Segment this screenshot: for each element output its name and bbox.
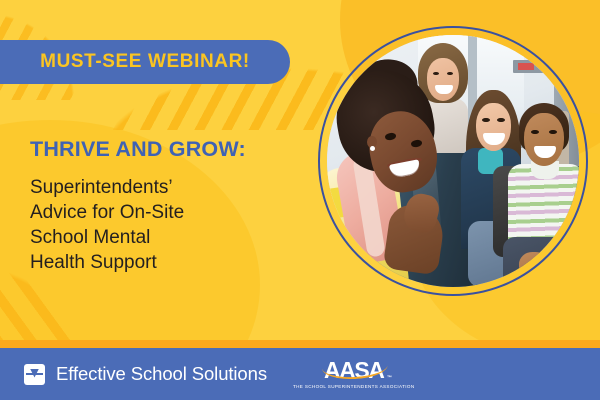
subhead-line-1: Superintendents’ bbox=[30, 175, 295, 200]
aasa-tagline: THE SCHOOL SUPERINTENDENTS ASSOCIATION bbox=[293, 384, 415, 389]
students-on-bus-photo bbox=[327, 35, 579, 287]
student-right-eye-left bbox=[531, 130, 539, 135]
promo-subheading: Superintendents’ Advice for On-Site Scho… bbox=[30, 175, 295, 275]
promo-copy-block: THRIVE AND GROW: Superintendents’ Advice… bbox=[30, 138, 295, 275]
bus-sign bbox=[513, 60, 553, 73]
must-see-webinar-badge: MUST-SEE WEBINAR! bbox=[0, 40, 290, 84]
aasa-trademark: ™ bbox=[387, 376, 391, 381]
student-front-earring bbox=[370, 146, 375, 151]
student-back-face bbox=[427, 58, 460, 101]
badge-label: MUST-SEE WEBINAR! bbox=[40, 51, 250, 73]
subhead-line-4: Health Support bbox=[30, 250, 295, 275]
effective-school-solutions-logo: Effective School Solutions bbox=[24, 363, 267, 385]
subhead-line-2: Advice for On-Site bbox=[30, 200, 295, 225]
webinar-promo-graphic: MUST-SEE WEBINAR! THRIVE AND GROW: Super… bbox=[0, 0, 600, 400]
footer-orange-strip bbox=[0, 340, 600, 348]
ess-wordmark: Effective School Solutions bbox=[56, 363, 267, 385]
aasa-logo: AASA ™ THE SCHOOL SUPERINTENDENTS ASSOCI… bbox=[293, 359, 415, 389]
student-right-face bbox=[524, 113, 564, 166]
photo-scene bbox=[327, 35, 579, 287]
student-right-eye-right bbox=[549, 130, 557, 135]
student-right-hands bbox=[519, 252, 549, 280]
aasa-wordmark-wrap: AASA ™ bbox=[324, 359, 384, 382]
ess-mark-icon bbox=[24, 364, 45, 385]
subhead-line-3: School Mental bbox=[30, 225, 295, 250]
page-title: THRIVE AND GROW: bbox=[30, 138, 295, 162]
footer-logo-bar: Effective School Solutions AASA ™ THE SC… bbox=[0, 348, 600, 400]
